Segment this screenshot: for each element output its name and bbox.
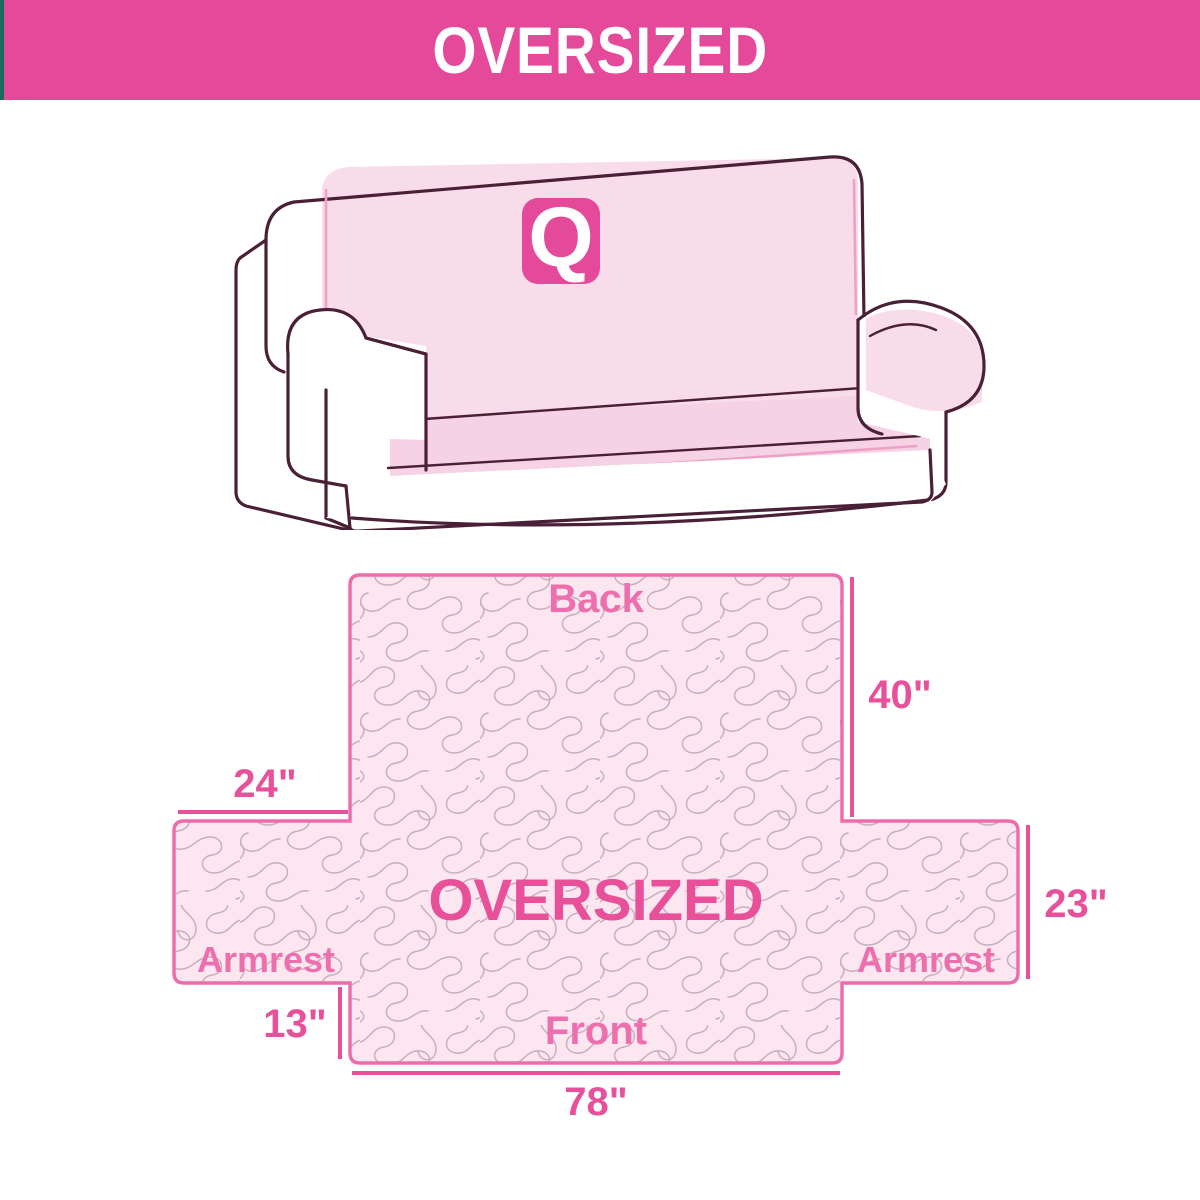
- label-oversized-center: OVERSIZED: [428, 868, 763, 933]
- label-armrest-right: Armrest: [857, 939, 995, 980]
- dimension-back-depth: 24": [178, 762, 348, 812]
- label-armrest-left: Armrest: [197, 939, 335, 980]
- dimension-armrest-height-label: 23": [1044, 882, 1107, 926]
- dimension-back-height-label: 40": [868, 673, 931, 717]
- sofa-logo-badge: Q: [522, 190, 600, 284]
- banner-left-edge-strip: [0, 0, 4, 100]
- dimension-total-width-label: 78": [564, 1080, 627, 1124]
- dimension-diagram: .panel { fill: url(#quilt); stroke: #EE6…: [0, 545, 1200, 1145]
- label-back: Back: [548, 577, 644, 621]
- dimension-front-drop: 13": [263, 987, 340, 1059]
- cover-cross-shape: [174, 575, 1018, 1063]
- dimension-total-width: 78": [352, 1073, 840, 1124]
- sofa-logo-letter: Q: [528, 190, 593, 284]
- dimension-back-height: 40": [852, 577, 932, 817]
- dimension-back-depth-label: 24": [233, 762, 296, 806]
- dimension-front-drop-label: 13": [263, 1002, 326, 1046]
- sofa-illustration: .so { fill: none; stroke: #4A2036; strok…: [230, 140, 990, 530]
- label-front: Front: [545, 1009, 647, 1053]
- dimension-armrest-height: 23": [1028, 825, 1108, 979]
- banner-title: OVERSIZED: [432, 17, 768, 83]
- header-banner: OVERSIZED: [0, 0, 1200, 100]
